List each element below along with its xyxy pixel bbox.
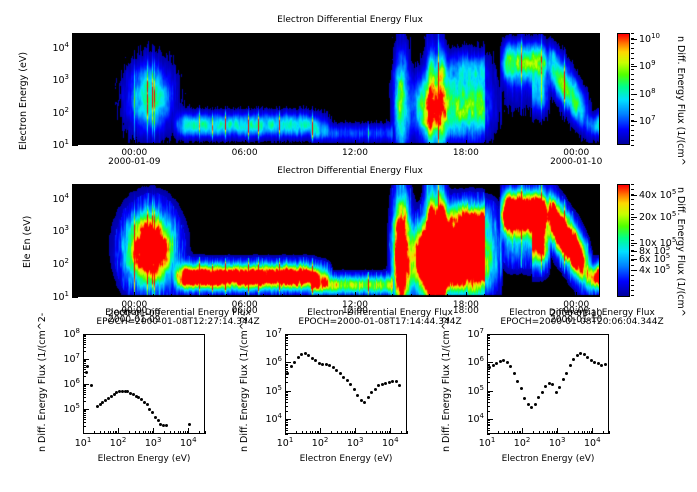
spectrum-xtick-minor: [547, 431, 548, 434]
spectrum-ytick-label: 106: [457, 355, 484, 368]
cbtick-minor: [631, 250, 634, 251]
spectrum-xtick-major: [355, 428, 356, 434]
spectrum-xtick-minor: [178, 431, 179, 434]
xtick-minor: [558, 294, 559, 297]
overlap-time-label: 12:00: [335, 306, 375, 316]
spectrum-xtick-minor: [376, 431, 377, 434]
spectrum-ytick-minor: [487, 343, 490, 344]
spectrum-ytick-label: 106: [255, 355, 282, 368]
spectrum-xtick-minor: [205, 431, 206, 434]
xtick-label: 18:00: [446, 148, 486, 158]
cbtick-major: [631, 39, 637, 40]
spectrum-ytick-minor: [487, 424, 490, 425]
spectrum-xtick-minor: [504, 431, 505, 434]
spectrum-xtick-minor: [315, 431, 316, 434]
spectrum-ytick-minor: [487, 425, 490, 426]
spectrum-xtick-minor: [512, 431, 513, 434]
spectrum-ytick-minor: [83, 386, 86, 387]
ytick-label: 102: [42, 257, 69, 270]
overlap-time-label: 06:00: [225, 306, 265, 316]
ytick-label: 104: [42, 192, 69, 205]
spectrum-ytick-minor: [83, 422, 86, 423]
xtick-label: 06:00: [225, 148, 265, 158]
cbtick-major: [631, 195, 637, 196]
xtick-minor: [208, 294, 209, 297]
spectrum-xtick-minor: [347, 431, 348, 434]
ytick-minor: [72, 277, 75, 278]
spectrum-data-point: [165, 424, 168, 427]
spectrum-ytick-minor: [83, 413, 86, 414]
spectrum-subtitle: EPOCH=2000-01-08T17:14:44.344Z: [263, 317, 497, 327]
ytick-minor: [72, 61, 75, 62]
ytick-minor: [72, 51, 75, 52]
spectrum-xtick-minor: [514, 431, 515, 434]
spectrum-ytick-minor: [285, 425, 288, 426]
cbtick-minor: [631, 69, 634, 70]
ytick-minor: [72, 116, 75, 117]
spectrum-ytick-label: 104: [255, 412, 282, 425]
cbtick-minor: [631, 145, 634, 146]
spectrum-xtick-minor: [508, 431, 509, 434]
spectrum-ytick-minor: [285, 345, 288, 346]
spectrum-xtick-label: 103: [137, 436, 169, 449]
spectrum-xtick-minor: [318, 431, 319, 434]
spectrum-ytick-minor: [83, 336, 86, 337]
spectrum-data-point: [374, 388, 377, 391]
xtick-minor: [282, 294, 283, 297]
ytick-minor: [72, 93, 75, 94]
spectrum-xtick-minor: [170, 431, 171, 434]
spectrum-ytick-minor: [285, 420, 288, 421]
xtick-date-label: 2000-01-10: [544, 157, 608, 167]
spectrum-xtick-minor: [591, 431, 592, 434]
xtick-minor: [208, 142, 209, 145]
ytick-minor: [72, 130, 75, 131]
xtick-minor: [447, 294, 448, 297]
panel2-plot-frame: [72, 184, 600, 297]
spectrum-ytick-minor: [83, 397, 86, 398]
spectrum-xtick-minor: [582, 431, 583, 434]
spectrum-ylabel: n Diff. Energy Flux (1/(cm^2-: [239, 313, 250, 452]
cbtick-major: [631, 217, 637, 218]
xtick-minor: [245, 294, 246, 297]
spectrum-ytick-minor: [487, 340, 490, 341]
ytick-minor: [72, 82, 75, 83]
spectrum-ytick-minor: [285, 335, 288, 336]
cbtick-minor: [631, 140, 634, 141]
spectrum-xtick-minor: [296, 431, 297, 434]
cbtick-minor: [631, 135, 634, 136]
cbtick-minor: [631, 130, 634, 131]
spectrum-xtick-major: [83, 428, 84, 434]
xtick-minor: [318, 142, 319, 145]
panel1-colorbar: [617, 33, 630, 145]
ytick-minor: [72, 241, 75, 242]
spectrum-ylabel: n Diff. Energy Flux (1/(cm^2-: [37, 313, 48, 452]
ytick-minor: [72, 254, 75, 255]
cbtick-minor: [631, 219, 634, 220]
spectrum-data-point: [346, 379, 349, 382]
xtick-minor: [503, 294, 504, 297]
spectrum-ytick-minor: [285, 402, 288, 403]
spectrum-xtick-minor: [520, 431, 521, 434]
spectrum-data-point: [311, 357, 314, 360]
ytick-minor: [72, 281, 75, 282]
ytick-minor: [72, 267, 75, 268]
spectrum-data-point: [604, 363, 607, 366]
spectrum-xtick-minor: [366, 431, 367, 434]
xtick-minor: [466, 142, 467, 145]
panel1-title: Electron Differential Energy Flux: [180, 15, 520, 25]
spectrum-xtick-minor: [498, 431, 499, 434]
xtick-minor: [429, 142, 430, 145]
spectrum-xtick-major: [118, 428, 119, 434]
spectrum-xtick-major: [487, 428, 488, 434]
cbtick-label: 108: [639, 87, 656, 100]
spectrum-xtick-major: [592, 428, 593, 434]
spectrum-data-point: [520, 387, 523, 390]
spectrum-xtick-minor: [574, 431, 575, 434]
cbtick-label: 40x 105: [639, 188, 676, 201]
cbtick-minor: [631, 120, 634, 121]
spectrum-ytick-minor: [487, 364, 490, 365]
xtick-minor: [171, 294, 172, 297]
spectrum-data-point: [353, 388, 356, 391]
spectrum-ytick-minor: [285, 354, 288, 355]
cbtick-minor: [631, 99, 634, 100]
ytick-minor: [72, 245, 75, 246]
cbtick-minor: [631, 245, 634, 246]
cbtick-minor: [631, 79, 634, 80]
spectrum-ytick-minor: [83, 415, 86, 416]
ytick-label: 101: [42, 290, 69, 303]
spectrum-data-point: [90, 384, 93, 387]
ytick-minor: [72, 209, 75, 210]
xtick-minor: [153, 142, 154, 145]
cbtick-minor: [631, 260, 634, 261]
spectrum-ytick-minor: [487, 422, 490, 423]
spectrum-xtick-label: 104: [172, 436, 204, 449]
spectrum-xtick-minor: [108, 431, 109, 434]
spectrum-xtick-minor: [556, 431, 557, 434]
spectrum-ytick-minor: [285, 340, 288, 341]
spectrum-ytick-minor: [285, 349, 288, 350]
cbtick-minor: [631, 189, 634, 190]
spectrum-ytick-label: 107: [255, 327, 282, 340]
spectrum-xtick-minor: [385, 431, 386, 434]
spectrum-xtick-major: [522, 428, 523, 434]
spectrum-xtick-minor: [145, 431, 146, 434]
ytick-major: [72, 145, 78, 146]
spectrum-data-point: [297, 356, 300, 359]
spectrum-data-point: [513, 372, 516, 375]
xtick-minor: [576, 294, 577, 297]
xtick-label: 12:00: [335, 148, 375, 158]
spectrum-xtick-minor: [310, 431, 311, 434]
spectrum-xtick-minor: [587, 431, 588, 434]
spectrum-xtick-minor: [164, 431, 165, 434]
spectrum-xtick-minor: [199, 431, 200, 434]
ytick-minor: [72, 90, 75, 91]
spectrum-ytick-minor: [83, 363, 86, 364]
spectrum-xtick-minor: [110, 431, 111, 434]
spectrum-ytick-minor: [487, 406, 490, 407]
spectrum-ytick-minor: [83, 340, 86, 341]
xtick-minor: [171, 142, 172, 145]
spectrum-data-point: [146, 403, 149, 406]
spectrum-ytick-minor: [285, 343, 288, 344]
xtick-minor: [355, 142, 356, 145]
spectrum-ytick-minor: [83, 401, 86, 402]
xtick-minor: [429, 294, 430, 297]
panel2-title: Electron Differential Energy Flux: [180, 166, 520, 176]
spectrum-xtick-label: 102: [102, 436, 134, 449]
spectrum-ytick-minor: [83, 410, 86, 411]
spectrum-data-point: [506, 361, 509, 364]
ytick-minor: [72, 97, 75, 98]
spectrum-xtick-minor: [139, 431, 140, 434]
cbtick-minor: [631, 58, 634, 59]
cbtick-minor: [631, 109, 634, 110]
spectrum-xtick-minor: [401, 431, 402, 434]
cbtick-minor: [631, 265, 634, 266]
cbtick-minor: [631, 94, 634, 95]
panel2-colorbar-label-wrap: n Diff. Energy Flux (1/(cm^: [686, 187, 697, 198]
xtick-minor: [153, 294, 154, 297]
spectrum-ytick-minor: [285, 411, 288, 412]
spectrum-xtick-minor: [539, 431, 540, 434]
ytick-minor: [72, 49, 75, 50]
cbtick-minor: [631, 280, 634, 281]
spectrum-ytick-minor: [83, 388, 86, 389]
spectrum-ytick-minor: [285, 394, 288, 395]
spectrum-ytick-minor: [83, 390, 86, 391]
cbtick-minor: [631, 48, 634, 49]
ytick-minor: [72, 114, 75, 115]
spectrum-xtick-label: 103: [339, 436, 371, 449]
spectrum-xtick-label: 104: [576, 436, 608, 449]
spectrum-ytick-minor: [285, 392, 288, 393]
spectrum-ytick-minor: [285, 434, 288, 435]
spectrum-xtick-minor: [180, 431, 181, 434]
spectrum-ytick-minor: [487, 338, 490, 339]
cbtick-minor: [631, 224, 634, 225]
spectrum-xtick-minor: [94, 431, 95, 434]
spectrum-xtick-minor: [143, 431, 144, 434]
spectrum-ytick-minor: [83, 376, 86, 377]
xtick-minor: [466, 294, 467, 297]
spectrum-ytick-minor: [487, 335, 490, 336]
spectrum-ytick-minor: [487, 397, 490, 398]
xtick-minor: [484, 142, 485, 145]
ytick-minor: [72, 204, 75, 205]
xtick-minor: [392, 142, 393, 145]
ytick-minor: [72, 85, 75, 86]
ytick-minor: [72, 237, 75, 238]
spectrum-ytick-minor: [285, 337, 288, 338]
cbtick-label: 1010: [639, 32, 660, 45]
ytick-minor: [72, 287, 75, 288]
panel2-ylabel: Ele En (eV): [22, 216, 33, 268]
xtick-minor: [337, 142, 338, 145]
spectrum-xtick-label: 104: [374, 436, 406, 449]
spectrum-xtick-minor: [568, 431, 569, 434]
ytick-label: 103: [42, 224, 69, 237]
ytick-minor: [72, 222, 75, 223]
cbtick-minor: [631, 240, 634, 241]
spectrum-xtick-minor: [104, 431, 105, 434]
cbtick-minor: [631, 33, 634, 34]
xtick-minor: [374, 294, 375, 297]
spectrum-xlabel: Electron Energy (eV): [53, 454, 235, 464]
cbtick-minor: [631, 204, 634, 205]
spectrum-ytick-minor: [487, 411, 490, 412]
cbtick-minor: [631, 84, 634, 85]
cbtick-minor: [631, 229, 634, 230]
spectrum-ytick-minor: [285, 422, 288, 423]
spectrum-ytick-minor: [83, 347, 86, 348]
spectrum-xtick-minor: [609, 431, 610, 434]
spectrum-xtick-minor: [116, 431, 117, 434]
ytick-minor: [72, 202, 75, 203]
ytick-minor: [72, 83, 75, 84]
xtick-minor: [539, 294, 540, 297]
panel1-ylabel: Electron Energy (eV): [18, 52, 29, 150]
spectrum-ytick-minor: [285, 395, 288, 396]
spectrum-xlabel: Electron Energy (eV): [457, 454, 639, 464]
panel1-colorbar-label: n Diff. Energy Flux (1/(cm^: [675, 36, 686, 166]
spectrum-data-point: [318, 362, 321, 365]
ytick-major: [72, 297, 78, 298]
overlap-date-label: 2000-01-10: [544, 315, 608, 325]
cbtick-minor: [631, 104, 634, 105]
spectrum-data-point: [367, 396, 370, 399]
spectrum-xtick-label: 101: [471, 436, 503, 449]
cbtick-minor: [631, 38, 634, 39]
cbtick-major: [631, 121, 637, 122]
spectrum-xtick-label: 101: [67, 436, 99, 449]
xtick-minor: [521, 294, 522, 297]
cbtick-minor: [631, 295, 634, 296]
spectrum-ytick-minor: [83, 394, 86, 395]
xtick-minor: [337, 294, 338, 297]
spectrum-ytick-minor: [83, 419, 86, 420]
ytick-label: 101: [42, 138, 69, 151]
spectrum-xtick-major: [320, 428, 321, 434]
spectrum-ytick-label: 104: [457, 412, 484, 425]
panel1-colorbar-label-wrap: n Diff. Energy Flux (1/(cm^: [686, 36, 697, 47]
spectrum-xtick-major: [285, 428, 286, 434]
cbtick-label: 109: [639, 59, 656, 72]
spectrum-ytick-label: 108: [53, 327, 80, 340]
cbtick-minor: [631, 184, 634, 185]
spectrum-xtick-minor: [306, 431, 307, 434]
spectrum-ytick-minor: [487, 377, 490, 378]
spectrum-data-point: [85, 371, 88, 374]
xtick-minor: [300, 294, 301, 297]
spectrum-xtick-minor: [345, 431, 346, 434]
spectrum-xtick-label: 103: [541, 436, 573, 449]
spectrum-data-point: [395, 380, 398, 383]
spectrum-xtick-minor: [331, 431, 332, 434]
spectrum-ytick-label: 107: [457, 327, 484, 340]
xtick-minor: [539, 142, 540, 145]
spectrum-ytick-minor: [83, 392, 86, 393]
panel2-colorbar-label: n Diff. Energy Flux (1/(cm^: [675, 187, 686, 317]
spectrum-xtick-minor: [584, 431, 585, 434]
spectrum-xtick-minor: [152, 431, 153, 434]
spectrum-ytick-minor: [83, 360, 86, 361]
ytick-minor: [72, 103, 75, 104]
ytick-minor: [72, 125, 75, 126]
xtick-minor: [318, 294, 319, 297]
spectrum-ytick-minor: [487, 402, 490, 403]
spectrum-xtick-minor: [341, 431, 342, 434]
spectrum-ytick-minor: [285, 338, 288, 339]
spectrum-ytick-minor: [487, 337, 490, 338]
ytick-minor: [72, 206, 75, 207]
cbtick-major: [631, 66, 637, 67]
cbtick-minor: [631, 125, 634, 126]
xtick-minor: [558, 142, 559, 145]
cbtick-minor: [631, 53, 634, 54]
spectrum-xtick-minor: [380, 431, 381, 434]
spectrum-ytick-minor: [83, 351, 86, 352]
cbtick-minor: [631, 255, 634, 256]
overlap-date-label: 2000-01-09: [102, 315, 166, 325]
spectrum-ytick-minor: [487, 349, 490, 350]
xtick-minor: [503, 142, 504, 145]
spectrum-ytick-minor: [83, 335, 86, 336]
panel1-plot-frame: [72, 33, 600, 145]
ytick-minor: [72, 266, 75, 267]
spectrum-ytick-minor: [487, 394, 490, 395]
cbtick-minor: [631, 199, 634, 200]
ytick-label: 104: [42, 41, 69, 54]
spectrum-ytick-minor: [487, 345, 490, 346]
cbtick-minor: [631, 74, 634, 75]
spectrum-ytick-minor: [83, 342, 86, 343]
spectrum-ytick-minor: [487, 434, 490, 435]
spectrum-ytick-minor: [83, 417, 86, 418]
cbtick-minor: [631, 89, 634, 90]
spectrum-xtick-major: [557, 428, 558, 434]
ytick-minor: [72, 269, 75, 270]
cbtick-minor: [631, 43, 634, 44]
spectrum-ytick-minor: [487, 420, 490, 421]
spectrum-xtick-minor: [302, 431, 303, 434]
cbtick-label: 20x 105: [639, 210, 676, 223]
spectrum-ytick-minor: [83, 361, 86, 362]
spectrum-xtick-major: [390, 428, 391, 434]
spectrum-ytick-minor: [285, 377, 288, 378]
xtick-date-label: 2000-01-09: [102, 157, 166, 167]
spectrum-ytick-minor: [285, 397, 288, 398]
cbtick-minor: [631, 234, 634, 235]
spectrum-xtick-minor: [312, 431, 313, 434]
xtick-minor: [411, 142, 412, 145]
xtick-minor: [190, 294, 191, 297]
spectrum-ytick-minor: [487, 395, 490, 396]
ytick-minor: [72, 65, 75, 66]
ytick-minor: [72, 70, 75, 71]
spectrum-xtick-minor: [517, 431, 518, 434]
spectrum-ytick-minor: [83, 369, 86, 370]
spectrum-xtick-minor: [100, 431, 101, 434]
spectrum-ytick-minor: [487, 354, 490, 355]
cbtick-minor: [631, 275, 634, 276]
xtick-minor: [282, 142, 283, 145]
